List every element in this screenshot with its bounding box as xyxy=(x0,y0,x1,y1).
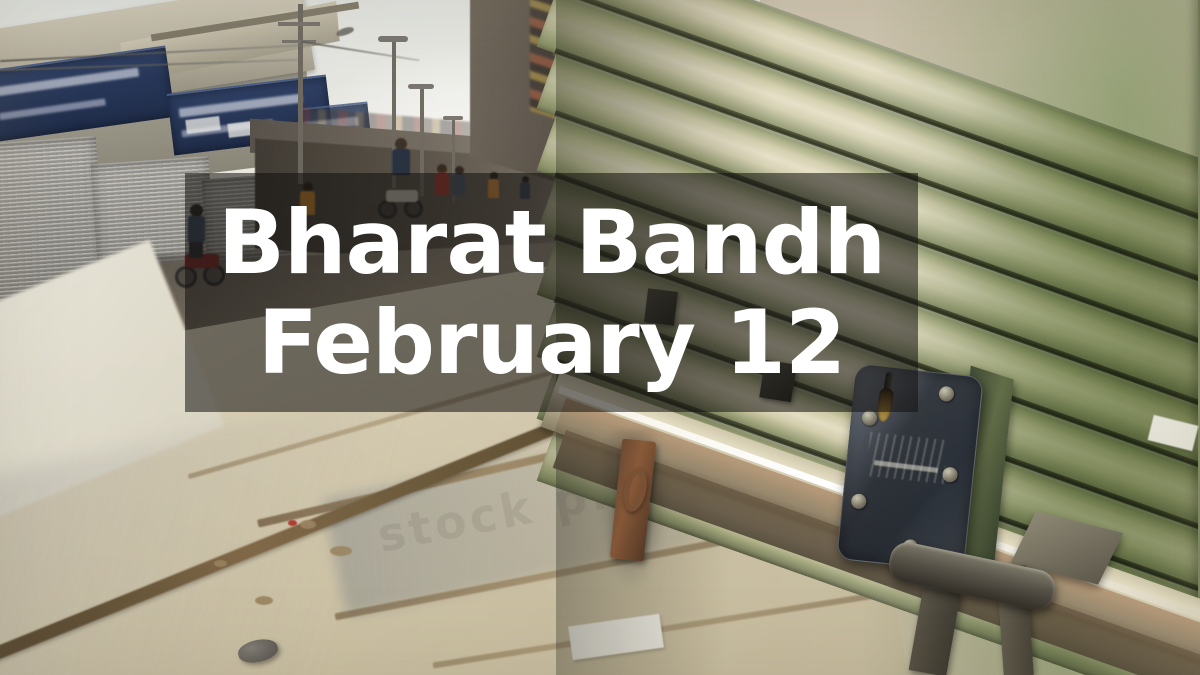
street-lamp-head xyxy=(443,116,463,120)
debris xyxy=(330,546,352,556)
red-litter xyxy=(288,520,297,526)
street-lamp-head xyxy=(378,36,408,42)
title-overlay: Bharat Bandh February 12 xyxy=(185,173,918,412)
pole-crossarm xyxy=(278,22,320,26)
padlock-engraving xyxy=(866,432,948,484)
debris xyxy=(255,596,273,605)
debris xyxy=(300,520,316,529)
utility-pole xyxy=(298,4,303,184)
debris xyxy=(214,560,227,567)
bharat-bandh-banner: stock photo xyxy=(0,0,1200,675)
overlay-title-line1: Bharat Bandh xyxy=(218,193,885,293)
street-lamp-head xyxy=(408,84,434,89)
overlay-title-line2: February 12 xyxy=(258,293,846,393)
